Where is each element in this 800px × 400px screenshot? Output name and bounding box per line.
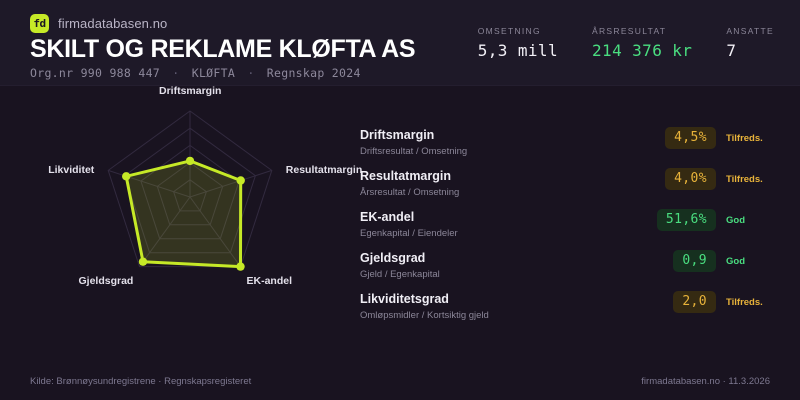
kpi-group: OMSETNING 5,3 mill ÅRSRESULTAT 214 376 k… [478,26,774,60]
metric-value-group: 4,5% Tilfreds. [665,126,780,149]
metric-value-group: 4,0% Tilfreds. [665,167,780,190]
meta-separator-1: · [167,66,184,80]
metric-value-group: 0,9 God [673,249,780,272]
metric-text: Resultatmargin Årsresultat / Omsetning [360,167,459,199]
firmadatabasen-logo-icon: fd [30,14,49,33]
kpi-omsetning-value: 5,3 mill [478,41,558,60]
report-card: fd firmadatabasen.no SKILT OG REKLAME KL… [0,0,800,400]
radar-series-area [126,161,241,267]
kpi-arsresultat-label: ÅRSRESULTAT [592,26,692,36]
metric-name: Likviditetsgrad [360,292,489,307]
metric-name: Driftsmargin [360,128,467,143]
metric-list: Driftsmargin Driftsresultat / Omsetning … [360,126,780,331]
metric-text: EK-andel Egenkapital / Eiendeler [360,208,458,240]
radar-data-point[interactable] [139,258,147,266]
radar-data-point[interactable] [122,172,130,180]
metric-rating-label: God [726,256,780,267]
kpi-arsresultat-value: 214 376 kr [592,41,692,60]
kpi-ansatte: ANSATTE 7 [726,26,774,60]
radar-axis-label-driftsmargin: Driftsmargin [159,85,221,97]
company-name: SKILT OG REKLAME KLØFTA AS [30,35,415,64]
metric-value-group: 2,0 Tilfreds. [673,290,780,313]
metric-row-ek-andel: EK-andel Egenkapital / Eiendeler 51,6% G… [360,208,780,249]
metric-text: Likviditetsgrad Omløpsmidler / Kortsikti… [360,290,489,322]
radar-axis-label-ek-andel: EK-andel [247,275,293,287]
metric-text: Driftsmargin Driftsresultat / Omsetning [360,126,467,158]
kpi-ansatte-value: 7 [726,41,774,60]
metric-formula: Egenkapital / Eiendeler [360,228,458,240]
kpi-arsresultat: ÅRSRESULTAT 214 376 kr [592,26,692,60]
metric-rating-label: Tilfreds. [726,174,780,185]
meta-separator-2: · [242,66,259,80]
radar-axis-label-gjeldsgrad: Gjeldsgrad [79,275,134,287]
kpi-ansatte-label: ANSATTE [726,26,774,36]
radar-data-point[interactable] [237,176,245,184]
metric-name: Resultatmargin [360,169,459,184]
metric-rating-label: Tilfreds. [726,133,780,144]
metric-value-badge: 2,0 [673,291,716,313]
kpi-omsetning: OMSETNING 5,3 mill [478,26,558,60]
metric-formula: Årsresultat / Omsetning [360,187,459,199]
metric-value-badge: 51,6% [657,209,716,231]
kpi-omsetning-label: OMSETNING [478,26,558,36]
metric-rating-label: God [726,215,780,226]
metric-value-badge: 0,9 [673,250,716,272]
company-meta: Org.nr 990 988 447 · KLØFTA · Regnskap 2… [30,66,361,80]
metric-row-likviditetsgrad: Likviditetsgrad Omløpsmidler / Kortsikti… [360,290,780,331]
metric-formula: Driftsresultat / Omsetning [360,146,467,158]
metric-row-gjeldsgrad: Gjeldsgrad Gjeld / Egenkapital 0,9 God [360,249,780,290]
metric-name: EK-andel [360,210,458,225]
metric-text: Gjeldsgrad Gjeld / Egenkapital [360,249,440,281]
metric-row-driftsmargin: Driftsmargin Driftsresultat / Omsetning … [360,126,780,167]
company-orgnr: Org.nr 990 988 447 [30,66,160,80]
radar-chart-svg [0,86,350,356]
footer-source: Kilde: Brønnøysundregistrene · Regnskaps… [30,376,251,387]
radar-data-point[interactable] [186,157,194,165]
metric-rating-label: Tilfreds. [726,297,780,308]
brand[interactable]: fd firmadatabasen.no [30,14,167,33]
metric-row-resultatmargin: Resultatmargin Årsresultat / Omsetning 4… [360,167,780,208]
metric-value-badge: 4,0% [665,168,716,190]
brand-name: firmadatabasen.no [58,16,167,31]
metric-value-badge: 4,5% [665,127,716,149]
metric-name: Gjeldsgrad [360,251,440,266]
company-place: KLØFTA [192,66,235,80]
radar-axis-label-likviditet: Likviditet [48,164,94,176]
metric-formula: Omløpsmidler / Kortsiktig gjeld [360,310,489,322]
footer-site-date: firmadatabasen.no · 11.3.2026 [641,376,770,387]
radar-axis-label-resultatmargin: Resultatmargin [286,164,362,176]
header: fd firmadatabasen.no SKILT OG REKLAME KL… [0,0,800,86]
company-accounting-year: Regnskap 2024 [267,66,361,80]
metric-value-group: 51,6% God [657,208,780,231]
radar-chart: DriftsmarginResultatmarginEK-andelGjelds… [0,86,350,356]
footer: Kilde: Brønnøysundregistrene · Regnskaps… [0,366,800,400]
radar-data-point[interactable] [236,262,244,270]
metric-formula: Gjeld / Egenkapital [360,269,440,281]
